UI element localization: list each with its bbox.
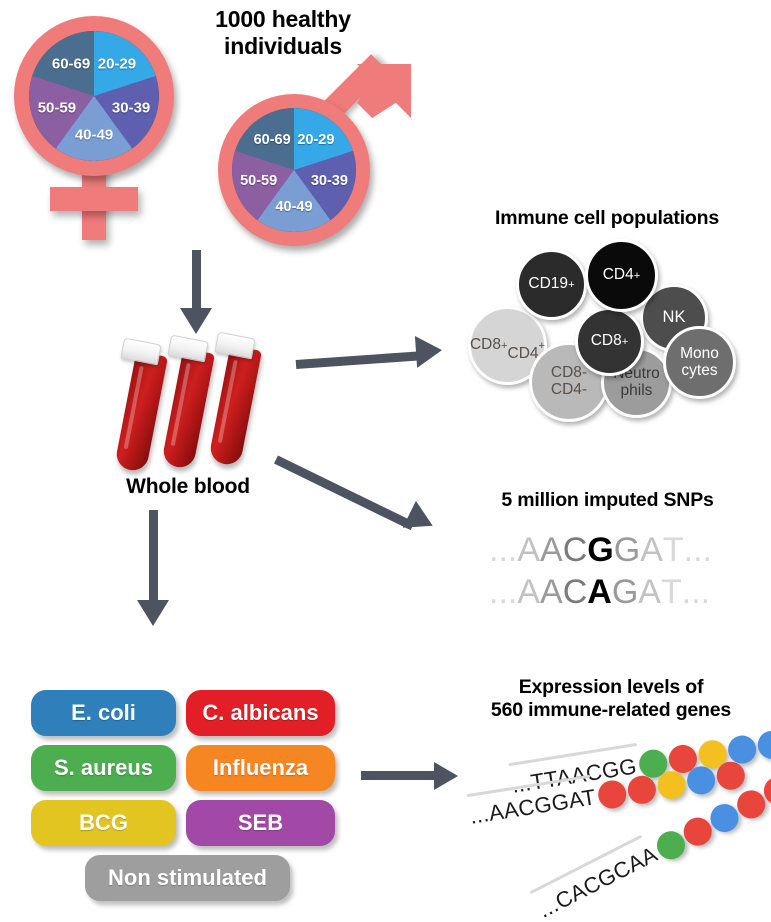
snps-title: 5 million imputed SNPs [455, 489, 760, 512]
stimulus-box-s-aureus[interactable]: S. aureus [31, 745, 176, 791]
stimulus-box-non-stimulated[interactable]: Non stimulated [85, 855, 290, 901]
stimulus-box-influenza[interactable]: Influenza [186, 745, 335, 791]
cohort-title: 1000 healthy individuals [168, 6, 398, 60]
cell-circle-cd8p: CD8+ [575, 307, 644, 376]
stimulus-box-e-coli[interactable]: E. coli [31, 690, 176, 736]
female-symbol: 20-2930-3940-4950-5960-69 [8, 12, 188, 242]
female-symbol-crossbar [50, 187, 138, 211]
blood-tube [161, 348, 215, 470]
age-label-30-39: 30-39 [112, 100, 150, 117]
stimulus-box-bcg[interactable]: BCG [31, 800, 176, 846]
whole-blood-label: Whole blood [78, 475, 298, 500]
age-label-20-29: 20-29 [98, 56, 136, 73]
blood-tube [208, 345, 262, 467]
figure-canvas: 1000 healthy individuals 20-2930-3940-49… [0, 0, 771, 922]
expression-title-line1: Expression levels of [455, 676, 767, 699]
female-age-pie: 20-2930-3940-4950-5960-69 [29, 31, 159, 161]
age-label-20-29: 20-29 [297, 132, 334, 148]
age-label-30-39: 30-39 [311, 173, 348, 189]
age-label-60-69: 60-69 [254, 132, 291, 148]
gene-bead [715, 760, 747, 792]
stimulus-box-seb[interactable]: SEB [186, 800, 335, 846]
male-symbol: 20-2930-3940-4950-5960-69 [205, 58, 420, 243]
expression-title-line2: 560 immune-related genes [455, 699, 767, 722]
age-label-50-59: 50-59 [38, 100, 76, 117]
blood-tube-cap [214, 332, 255, 360]
blood-tube-cap [167, 335, 208, 363]
age-label-60-69: 60-69 [52, 56, 90, 73]
gene-bead [656, 769, 688, 801]
gene-bead [626, 774, 658, 806]
stimulus-box-c-albicans[interactable]: C. albicans [186, 690, 335, 736]
snp-sequence-row: ...AACGGAT... [489, 531, 712, 570]
male-age-pie: 20-2930-3940-4950-5960-69 [232, 108, 356, 232]
gene-bead [685, 764, 717, 796]
age-label-40-49: 40-49 [275, 199, 312, 215]
expression-title: Expression levels of 560 immune-related … [455, 676, 767, 722]
gene-bead [756, 729, 771, 761]
male-symbol-head [357, 64, 411, 118]
blood-tube-cap [120, 338, 161, 366]
cohort-title-line1: 1000 healthy [168, 6, 398, 33]
age-label-50-59: 50-59 [240, 173, 277, 189]
gene-bead [596, 778, 628, 810]
age-label-40-49: 40-49 [75, 127, 113, 144]
immune-cell-title: Immune cell populations [452, 207, 762, 230]
cohort-title-line2: individuals [168, 33, 398, 60]
cell-circle-cd19p: CD19+ [516, 249, 587, 320]
blood-tube [114, 351, 168, 473]
cell-circle-cd4p: CD4+ [585, 239, 658, 312]
snp-sequence-row: ...AACAGAT... [489, 573, 710, 612]
cell-circle-monocytes: Monocytes [663, 326, 736, 399]
